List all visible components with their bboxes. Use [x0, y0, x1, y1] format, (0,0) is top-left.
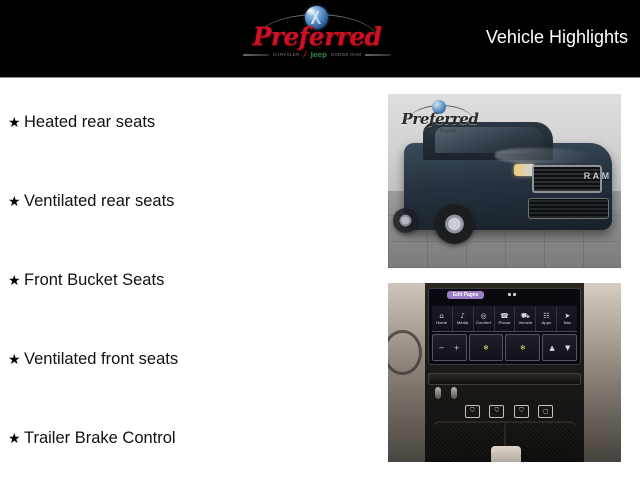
vehicle-exterior-photo[interactable]: RAM Preferred Grand Rapids — [388, 94, 621, 268]
fan-speed-stepper[interactable]: ▲ ▼ — [542, 334, 577, 361]
highlight-label: Ventilated rear seats — [24, 193, 174, 210]
fan-up-icon[interactable]: ▲ — [549, 344, 554, 352]
logo-sub-jeep: Jeep — [310, 51, 326, 59]
page-dot — [508, 293, 511, 296]
logo-slash-decoration: / — [304, 50, 307, 59]
vehicle-interior-console-photo[interactable]: Edit Pages ⌂ Home ♪ Media ◎ Comfort — [388, 283, 621, 462]
page-header: Preferred CHRYSLER / Jeep DODGE RAM Vehi… — [0, 0, 640, 78]
cup-holder — [491, 446, 521, 462]
list-item: ★ Trailer Brake Control — [8, 430, 176, 447]
list-item: ★ Heated rear seats — [8, 114, 155, 131]
menu-item-apps[interactable]: ☷ Apps — [536, 306, 557, 331]
star-bullet-icon: ★ — [8, 353, 24, 367]
menu-item-home[interactable]: ⌂ Home — [432, 306, 453, 331]
truck-lower-bumper — [528, 198, 610, 219]
menu-item-media[interactable]: ♪ Media — [453, 306, 474, 331]
console-switch-row: ⛉ ⛉ ⛉ ▢ — [465, 405, 554, 418]
seat-climate-right[interactable]: ❄ — [505, 334, 540, 361]
logo-rule-left — [243, 54, 269, 56]
menu-label: Nav — [564, 321, 571, 325]
menu-item-nav[interactable]: ➤ Nav — [557, 306, 577, 331]
logo-wordmark: Preferred — [243, 24, 391, 49]
menu-label: Comfort — [476, 321, 491, 325]
star-bullet-icon: ★ — [8, 116, 24, 130]
phone-icon: ☎ — [500, 313, 509, 320]
menu-label: Phone — [498, 321, 510, 325]
apps-grid-icon: ☷ — [543, 313, 549, 320]
infotainment-menu-bar: ⌂ Home ♪ Media ◎ Comfort ☎ Phone ⛟ Veh — [432, 306, 578, 332]
fan-down-icon[interactable]: ▼ — [565, 344, 570, 352]
menu-item-comfort[interactable]: ◎ Comfort — [474, 306, 495, 331]
truck-front-wheel — [435, 204, 475, 244]
seat-switch-button[interactable]: ⛉ — [465, 405, 480, 418]
ram-badge: RAM — [584, 171, 612, 181]
highlight-label: Trailer Brake Control — [24, 430, 176, 447]
logo-rule-right — [365, 54, 391, 56]
highlight-label: Ventilated front seats — [24, 351, 178, 368]
list-item: ★ Front Bucket Seats — [8, 272, 164, 289]
star-bullet-icon: ★ — [8, 432, 24, 446]
list-item: ★ Ventilated rear seats — [8, 193, 174, 210]
vehicle-highlights-list: ★ Heated rear seats ★ Ventilated rear se… — [0, 86, 372, 480]
menu-label: Home — [436, 321, 447, 325]
home-icon: ⌂ — [439, 313, 443, 320]
navigation-arrow-icon: ➤ — [564, 313, 570, 320]
page-title: Vehicle Highlights — [486, 27, 628, 48]
climate-control-row: − + ❄ ❄ ▲ ▼ — [432, 334, 578, 361]
logo-sub-chrysler: CHRYSLER — [273, 52, 300, 57]
list-item: ★ Ventilated front seats — [8, 351, 178, 368]
trailer-brake-switch-button[interactable]: ▢ — [538, 405, 553, 418]
comfort-fan-icon: ◎ — [480, 313, 486, 320]
menu-item-phone[interactable]: ☎ Phone — [495, 306, 516, 331]
truck-hood-highlight — [495, 148, 593, 164]
center-air-vent — [428, 373, 582, 386]
console-knob[interactable] — [435, 387, 441, 399]
dashboard-right-trim — [584, 283, 621, 462]
vehicle-car-icon: ⛟ — [521, 313, 530, 320]
seat-switch-button[interactable]: ⛉ — [514, 405, 529, 418]
heated-seat-icon: ❄ — [483, 344, 489, 352]
menu-item-vehicle[interactable]: ⛟ Vehicle — [515, 306, 536, 331]
highlight-label: Front Bucket Seats — [24, 272, 164, 289]
console-knob[interactable] — [451, 387, 457, 399]
menu-label: Media — [457, 321, 468, 325]
menu-label: Vehicle — [519, 321, 533, 325]
seat-switch-button[interactable]: ⛉ — [489, 405, 504, 418]
logo-subtitle-row: CHRYSLER / Jeep DODGE RAM — [243, 50, 391, 59]
star-bullet-icon: ★ — [8, 195, 24, 209]
infotainment-touchscreen[interactable]: Edit Pages ⌂ Home ♪ Media ◎ Comfort — [428, 288, 582, 365]
seat-climate-left[interactable]: ❄ — [469, 334, 504, 361]
highlight-label: Heated rear seats — [24, 114, 155, 131]
media-note-icon: ♪ — [460, 313, 464, 320]
temperature-plus-icon[interactable]: + — [454, 344, 460, 352]
heated-seat-icon: ❄ — [520, 344, 526, 352]
temperature-minus-icon[interactable]: − — [439, 344, 445, 352]
temperature-stepper-left[interactable]: − + — [432, 334, 467, 361]
logo-sub-dodge-ram: DODGE RAM — [331, 52, 361, 57]
page-indicator-dots — [508, 293, 516, 296]
dealer-logo: Preferred CHRYSLER / Jeep DODGE RAM — [243, 2, 391, 64]
menu-label: Apps — [542, 321, 552, 325]
edit-pages-button[interactable]: Edit Pages — [447, 291, 485, 299]
vehicle-highlights-page: Preferred CHRYSLER / Jeep DODGE RAM Vehi… — [0, 0, 640, 480]
star-bullet-icon: ★ — [8, 274, 24, 288]
page-dot — [513, 293, 516, 296]
